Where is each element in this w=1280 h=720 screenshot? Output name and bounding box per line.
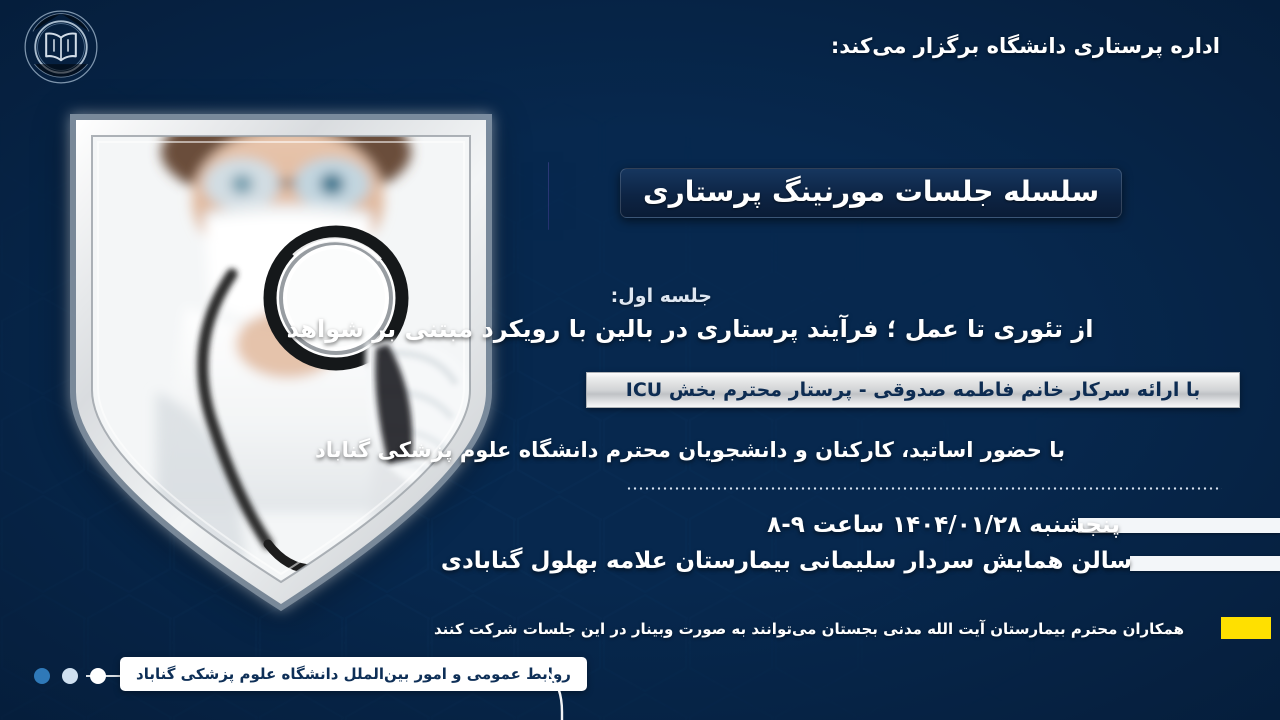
presenter-bar: با ارائه سرکار خانم فاطمه صدوقی - پرستار… [586, 372, 1240, 408]
attendance-text: با حضور اساتید، کارکنان و دانشجویان محتر… [160, 438, 1220, 462]
footer-dot-3 [34, 668, 50, 684]
decor-yellow-block [1221, 617, 1271, 639]
kicker-text: اداره پرستاری دانشگاه برگزار می‌کند: [831, 34, 1220, 58]
session-number-label: جلسه اول: [611, 285, 712, 307]
webinar-note: همکاران محترم بیمارستان آیت الله مدنی بج… [434, 620, 1184, 638]
footer-connector-line [86, 675, 122, 677]
series-title-plaque: سلسله جلسات مورنینگ پرستاری [620, 168, 1122, 218]
svg-text:MORNING: MORNING [548, 72, 554, 272]
footer-dot-2 [62, 668, 78, 684]
footer-credit-text: روابط عمومی و امور بین‌الملل دانشگاه علو… [136, 665, 571, 683]
footer-credit-chip: روابط عمومی و امور بین‌الملل دانشگاه علو… [120, 657, 587, 691]
presenter-text: با ارائه سرکار خانم فاطمه صدوقی - پرستار… [626, 379, 1201, 401]
decor-white-bar-bottom [1130, 556, 1280, 571]
poster-canvas: اداره پرستاری دانشگاه برگزار می‌کند: MOR… [0, 0, 1280, 720]
event-datetime: پنجشنبه ۱۴۰۴/۰۱/۲۸ ساعت ۹-۸ [767, 512, 1120, 538]
event-venue: سالن همایش سردار سلیمانی بیمارستان علامه… [441, 548, 1132, 574]
university-logo-icon [22, 8, 100, 86]
session-title: از تئوری تا عمل ؛ فرآیند پرستاری در بالی… [160, 315, 1220, 343]
dotted-divider [626, 487, 1222, 490]
